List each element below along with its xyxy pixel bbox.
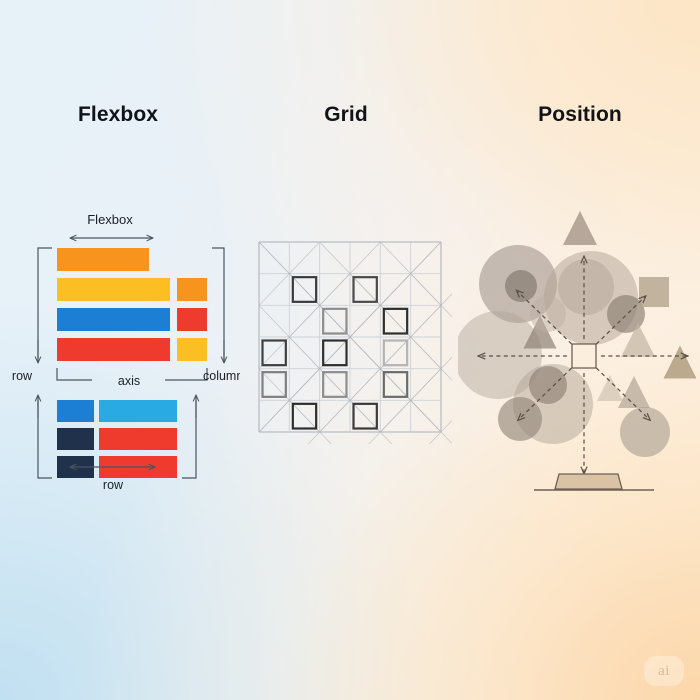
position-base [534,474,654,490]
flex-bar-main-2 [57,308,170,331]
position-diagram [458,192,696,504]
flex-bar-main-3 [57,338,170,361]
flex-bar-main-0 [57,248,149,271]
flexbox-upper-group [57,248,207,361]
column-title-flexbox: Flexbox [0,103,236,127]
flex-block-left-0 [57,400,94,422]
position-shape-square [639,277,669,307]
poster-canvas: Flexbox Grid Position Flexbox [0,0,700,700]
flex-bar-side-2 [177,308,207,331]
flexbox-label-column: column [203,369,240,383]
flexbox-diagram: Flexbox row axis column [0,190,240,480]
ai-watermark-badge: ai [644,656,684,686]
position-shape-triangle [664,346,697,379]
flexbox-row-measure: row [0,455,240,501]
flexbox-label-row: row [12,369,33,383]
flexbox-row-bracket [38,248,52,363]
flex-bar-side-3 [177,338,207,361]
position-shape-triangle [618,376,650,408]
position-shape-triangle [597,375,623,401]
position-pedestal [555,474,622,489]
flex-bar-side-1 [177,278,207,301]
column-title-position: Position [460,103,700,127]
position-shape-triangle [563,211,597,245]
position-center-square[interactable] [572,344,596,368]
flex-block-left-1 [57,428,94,450]
watermark-label: ai [658,663,670,680]
flex-bar-main-1 [57,278,170,301]
flexbox-label-axis: axis [118,374,140,388]
flexbox-caption: Flexbox [87,212,133,227]
grid-diagram [248,228,452,444]
column-title-grid: Grid [232,103,460,127]
position-shape-cluster [458,211,696,457]
flexbox-column-bracket [212,248,224,363]
position-shape-circle [505,270,537,302]
position-shape-circle [530,296,566,332]
flex-block-right-0 [99,400,177,422]
flexbox-label-row-bottom: row [103,478,124,492]
position-shape-circle [529,366,567,404]
flex-block-right-1 [99,428,177,450]
position-shape-circle [498,397,542,441]
